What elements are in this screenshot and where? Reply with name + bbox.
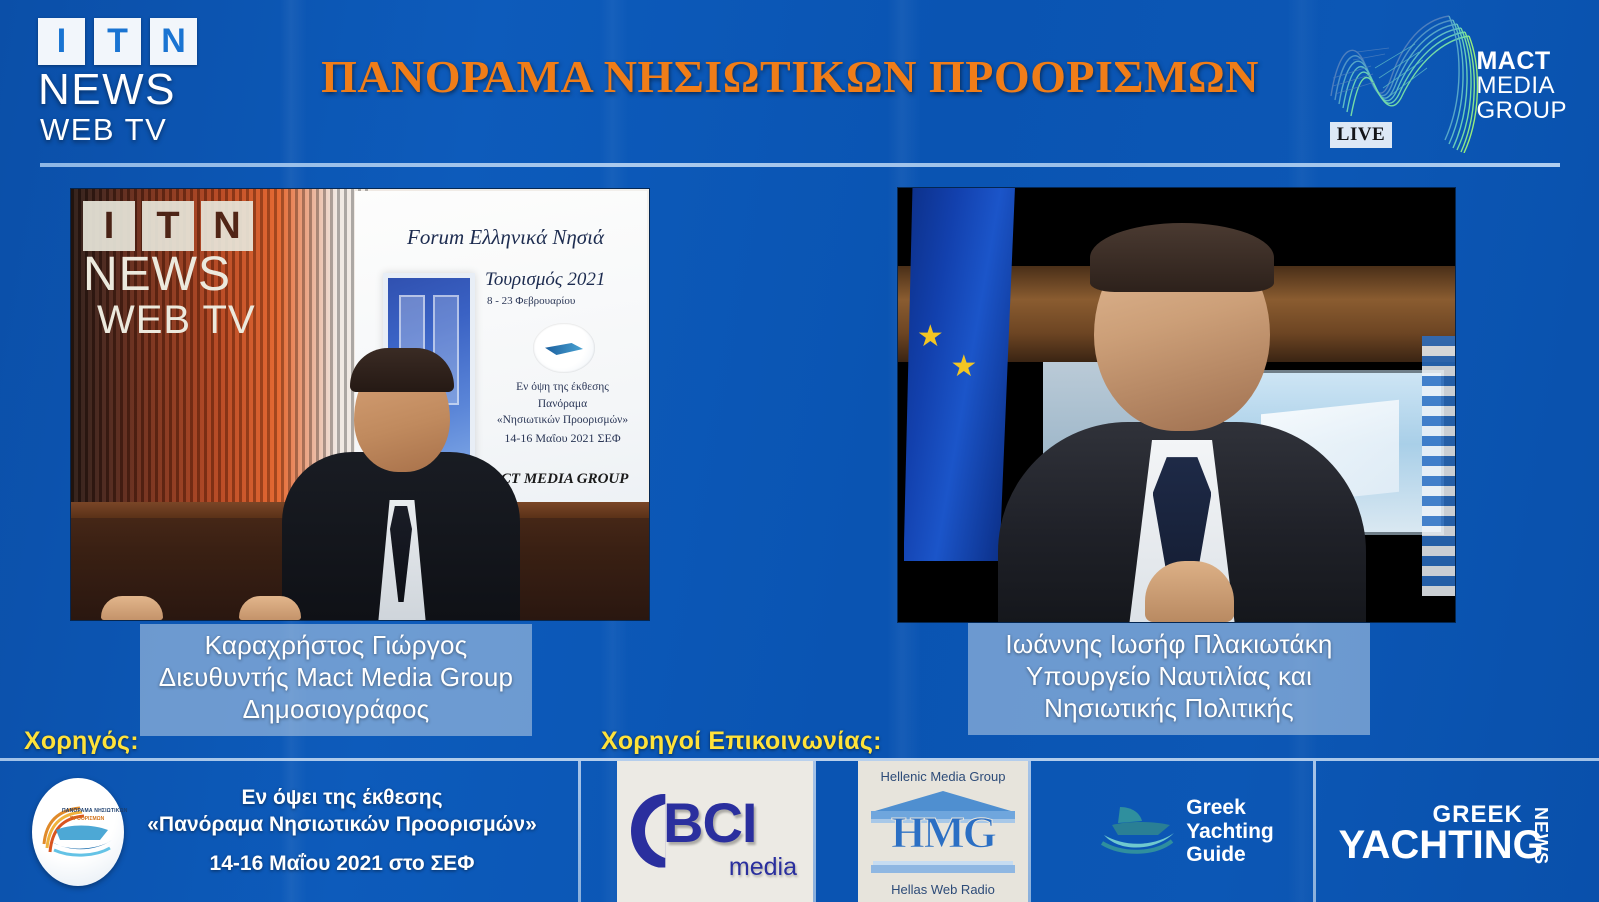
band-gap-2 [816, 761, 858, 902]
backdrop-logo-webtv: WEB TV [83, 299, 283, 341]
header-divider [40, 163, 1560, 167]
video-feed-right[interactable]: ★ ★ [898, 188, 1455, 622]
channel-logo-box-t: T [94, 18, 141, 65]
lower-third-left-role: Διευθυντής Mact Media Group [154, 662, 518, 694]
bci-letters: BCI [663, 790, 756, 855]
poster-title: Forum Ελληνικά Νησιά [407, 225, 645, 250]
producer-logo-text: MACT MEDIA GROUP [1476, 48, 1567, 124]
lower-third-right-role: Υπουργείο Ναυτιλίας και [982, 661, 1356, 693]
studio-backdrop: I T N NEWS WEB TV Forum Ελληνικά Νησιά Τ… [71, 189, 649, 620]
gyg-line1: Greek [1186, 796, 1274, 820]
guest-left-hand-1 [101, 596, 163, 620]
channel-logo-boxes: I T N [38, 18, 268, 65]
eu-flag-star-2: ★ [950, 352, 977, 382]
gyn-yachting-word: YACHTING [1339, 823, 1544, 868]
panorama-badge-text-1: ΠΑΝΟΡΑΜΑ ΝΗΣΙΩΤΙΚΩΝ [62, 808, 128, 814]
media-sponsors-label: Χορηγοί Επικοινωνίας: [601, 727, 882, 756]
office-background: ★ ★ [898, 188, 1455, 622]
backdrop-logo-news: NEWS [83, 251, 283, 299]
guest-left-hands [101, 592, 301, 620]
sponsor-main-text: Εν όψει της έκθεσης «Πανόραμα Νησιωτικών… [124, 785, 578, 878]
channel-logo-news: NEWS [38, 67, 268, 113]
band-gap-3 [1031, 761, 1059, 902]
channel-logo-box-i: I [38, 18, 85, 65]
guest-left-figure [276, 310, 526, 620]
sponsor-main-line1: Εν όψει της έκθεσης [241, 786, 442, 809]
guest-left-hair [350, 348, 454, 392]
channel-logo-webtv: WEB TV [38, 113, 268, 147]
lower-third-left-role2: Δημοσιογράφος [154, 694, 518, 726]
guest-left-hand-2 [239, 596, 301, 620]
hmg-letters: HMG [861, 807, 1025, 858]
lower-third-left: Καραχρήστος Γιώργος Διευθυντής Mact Medi… [140, 624, 532, 736]
channel-logo-box-n: N [150, 18, 197, 65]
backdrop-logo-box-i: I [83, 201, 135, 251]
gyg-line2: Yachting [1186, 820, 1274, 844]
sponsor-main-line2: «Πανόραμα Νησιωτικών Προορισμών» [147, 813, 537, 836]
poster-dates: 8 - 23 Φεβρουαρίου [487, 295, 647, 307]
lower-third-right-role2: Νησιωτικής Πολιτικής [982, 693, 1356, 725]
backdrop-logo-box-t: T [142, 201, 194, 251]
band-divider-2 [813, 761, 816, 902]
channel-logo: I T N NEWS WEB TV [38, 18, 268, 147]
sponsor-gyg-cell[interactable]: Greek Yachting Guide [1059, 761, 1313, 902]
guest-right-hair [1090, 223, 1274, 292]
bci-logo: BCI media [629, 780, 801, 884]
poster-subtitle: Τουρισμός 2021 [485, 269, 645, 291]
sponsor-main-line3: 14-16 Μαΐου 2021 στο ΣΕΦ [124, 851, 560, 878]
gyg-line3: Guide [1186, 843, 1274, 867]
gyn-logo: GREEK YACHTING NEWS [1337, 795, 1579, 869]
guest-right-figure [998, 188, 1366, 622]
hmg-top-text: Hellenic Media Group [861, 763, 1025, 784]
gyn-news-word: NEWS [1530, 807, 1551, 865]
sponsor-band: ΠΑΝΟΡΑΜΑ ΝΗΣΙΩΤΙΚΩΝ ΠΡΟΟΡΙΣΜΩΝ Εν όψει τ… [0, 761, 1599, 902]
gyg-logo: Greek Yachting Guide [1098, 796, 1274, 868]
sponsor-bci-cell[interactable]: BCI media [617, 761, 813, 902]
gyg-text: Greek Yachting Guide [1186, 796, 1274, 868]
live-badge: LIVE [1330, 122, 1392, 148]
video-feed-left[interactable]: I T N NEWS WEB TV Forum Ελληνικά Νησιά Τ… [71, 189, 649, 620]
hmg-bottom-text: Hellas Web Radio [861, 882, 1025, 897]
panorama-badge-text-2: ΠΡΟΟΡΙΣΜΩΝ [70, 816, 104, 822]
lower-third-right-name: Ιωάννης Ιωσήφ Πλακιωτάκη [982, 629, 1356, 661]
sponsor-gyn-cell[interactable]: GREEK YACHTING NEWS [1316, 761, 1599, 902]
sponsor-main-cell[interactable]: ΠΑΝΟΡΑΜΑ ΝΗΣΙΩΤΙΚΩΝ ΠΡΟΟΡΙΣΜΩΝ Εν όψει τ… [0, 761, 578, 902]
producer-name-line3: GROUP [1476, 99, 1567, 124]
guest-right-hands [1145, 561, 1233, 622]
broadcast-screen: I T N NEWS WEB TV ΠΑΝΟΡΑΜΑ ΝΗΣΙΩΤΙΚΩΝ ΠΡ… [0, 0, 1599, 902]
band-divider-1 [578, 761, 581, 902]
sponsor-label: Χορηγός: [24, 727, 139, 756]
lower-third-right: Ιωάννης Ιωσήφ Πλακιωτάκη Υπουργείο Ναυτι… [968, 623, 1370, 735]
band-divider-3 [1028, 761, 1031, 902]
poster-emblem-icon [533, 323, 595, 373]
band-gap-1 [581, 761, 617, 902]
backdrop-channel-logo: I T N NEWS WEB TV [83, 201, 283, 341]
sponsor-hmg-cell[interactable]: Hellenic Media Group HMG Hellas Web Radi… [858, 761, 1028, 902]
hmg-logo: Hellenic Media Group HMG Hellas Web Radi… [861, 763, 1025, 901]
eu-flag-star-1: ★ [917, 322, 944, 352]
yacht-icon [1098, 803, 1176, 861]
backdrop-logo-box-n: N [201, 201, 253, 251]
lower-third-left-name: Καραχρήστος Γιώργος [154, 630, 518, 662]
backdrop-logo-boxes: I T N [83, 201, 283, 251]
panorama-badge-icon: ΠΑΝΟΡΑΜΑ ΝΗΣΙΩΤΙΚΩΝ ΠΡΟΟΡΙΣΜΩΝ [32, 778, 124, 886]
producer-name-line1: MACT [1476, 48, 1567, 74]
greek-flag [1422, 336, 1455, 596]
producer-name-line2: MEDIA [1476, 74, 1567, 99]
bci-media-word: media [729, 853, 797, 882]
program-title: ΠΑΝΟΡΑΜΑ ΝΗΣΙΩΤΙΚΩΝ ΠΡΟΟΡΙΣΜΩΝ [300, 50, 1280, 103]
